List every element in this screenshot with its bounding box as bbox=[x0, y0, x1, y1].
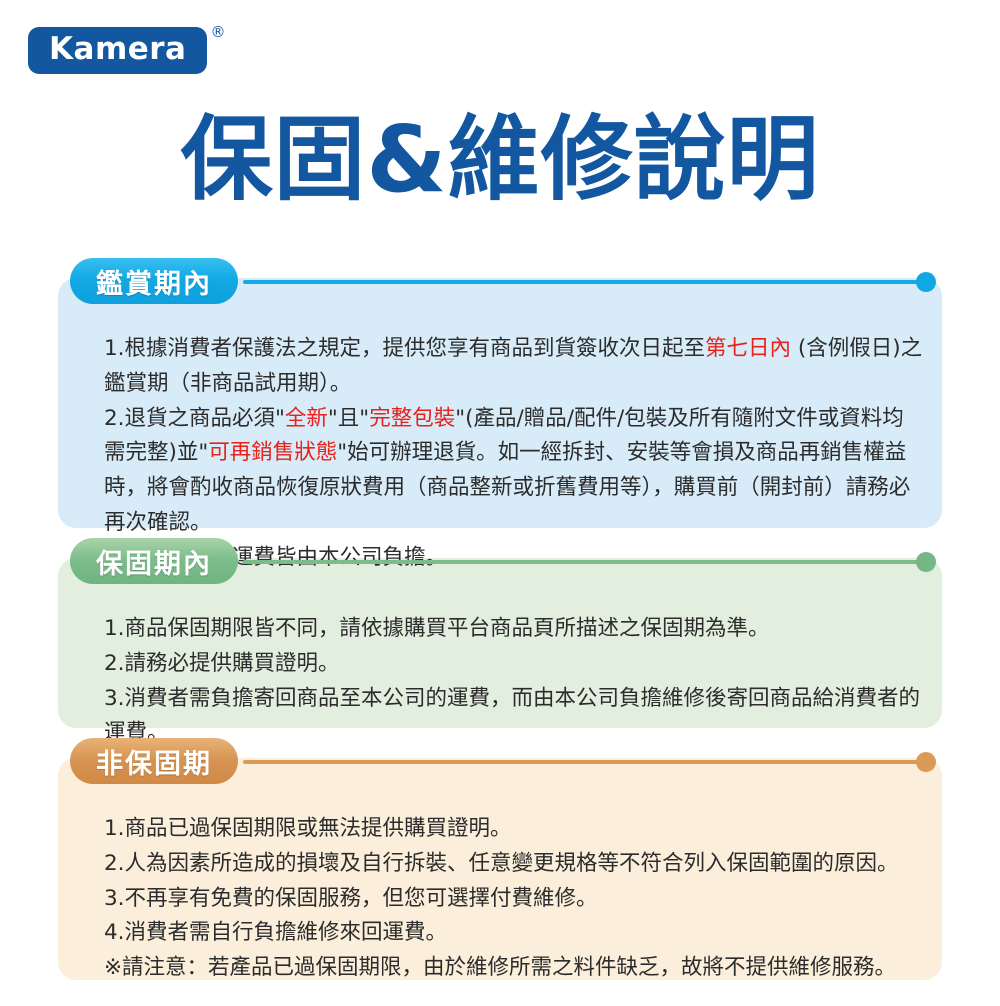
text-run: 2.退貨之商品必須" bbox=[104, 406, 285, 431]
text-run: 4.消費者需自行負擔維修來回運費。 bbox=[104, 920, 447, 945]
brand-logo: Kamera ® bbox=[28, 27, 225, 74]
header-rule bbox=[243, 560, 924, 564]
section-badge-warranty: 保固期內 bbox=[70, 538, 238, 584]
text-run: 1.商品已過保固期限或無法提供購買證明。 bbox=[104, 816, 512, 841]
highlighted-text: 全新 bbox=[285, 406, 328, 431]
header-dot-icon bbox=[916, 272, 936, 292]
section-nonwarranty: 非保固期 1.商品已過保固期限或無法提供購買證明。2.人為因素所造成的損壞及自行… bbox=[58, 738, 942, 1006]
section-header-warranty: 保固期內 bbox=[58, 538, 942, 584]
note-line: ※請注意：若產品已過保固期限，由於維修所需之料件缺乏，故將不提供維修服務。 bbox=[80, 951, 924, 986]
registered-trademark-icon: ® bbox=[210, 23, 225, 41]
list-item: 3.不再享有免費的保固服務，但您可選擇付費維修。 bbox=[80, 882, 924, 917]
text-run: 1.根據消費者保護法之規定，提供您享有商品到貨簽收次日起至 bbox=[104, 336, 705, 361]
list-item: 4.消費者需自行負擔維修來回運費。 bbox=[80, 916, 924, 951]
list-item: 1.根據消費者保護法之規定，提供您享有商品到貨簽收次日起至第七日內 (含例假日)… bbox=[80, 332, 924, 402]
section-badge-appraisal: 鑑賞期內 bbox=[70, 258, 238, 304]
list-item: 2.退貨之商品必須"全新"且"完整包裝"(產品/贈品/配件/包裝及所有隨附文件或… bbox=[80, 402, 924, 541]
section-warranty: 保固期內 1.商品保固期限皆不同，請依據購買平台商品頁所描述之保固期為準。2.請… bbox=[58, 538, 942, 771]
text-run: 3.不再享有免費的保固服務，但您可選擇付費維修。 bbox=[104, 886, 598, 911]
brand-logo-text: Kamera bbox=[28, 27, 207, 74]
page-title: 保固&維修說明 bbox=[0, 108, 1000, 211]
text-run: ※請注意：若產品已過保固期限，由於維修所需之料件缺乏，故將不提供維修服務。 bbox=[104, 955, 896, 980]
highlighted-text: 完整包裝 bbox=[369, 406, 455, 431]
header-dot-icon bbox=[916, 752, 936, 772]
list-item: 1.商品已過保固期限或無法提供購買證明。 bbox=[80, 812, 924, 847]
highlighted-text: 可再銷售狀態 bbox=[208, 440, 337, 465]
text-run: 1.商品保固期限皆不同，請依據購買平台商品頁所描述之保固期為準。 bbox=[104, 616, 770, 641]
header-rule bbox=[243, 280, 924, 284]
text-run: 2.人為因素所造成的損壞及自行拆裝、任意變更規格等不符合列入保固範圍的原因。 bbox=[104, 851, 899, 876]
header-rule bbox=[243, 760, 924, 764]
header-dot-icon bbox=[916, 552, 936, 572]
section-header-appraisal: 鑑賞期內 bbox=[58, 258, 942, 304]
text-run: "且" bbox=[328, 406, 369, 431]
list-item: 2.人為因素所造成的損壞及自行拆裝、任意變更規格等不符合列入保固範圍的原因。 bbox=[80, 847, 924, 882]
list-item: 2.請務必提供購買證明。 bbox=[80, 647, 924, 682]
text-run: 2.請務必提供購買證明。 bbox=[104, 651, 340, 676]
section-badge-nonwarranty: 非保固期 bbox=[70, 738, 238, 784]
text-run: 3.消費者需負擔寄回商品至本公司的運費，而由本公司負擔維修後寄回商品給消費者的運… bbox=[104, 686, 920, 746]
section-header-nonwarranty: 非保固期 bbox=[58, 738, 942, 784]
section-body-nonwarranty: 1.商品已過保固期限或無法提供購買證明。2.人為因素所造成的損壞及自行拆裝、任意… bbox=[58, 784, 942, 1006]
list-item: 1.商品保固期限皆不同，請依據購買平台商品頁所描述之保固期為準。 bbox=[80, 612, 924, 647]
highlighted-text: 第七日內 bbox=[705, 336, 791, 361]
